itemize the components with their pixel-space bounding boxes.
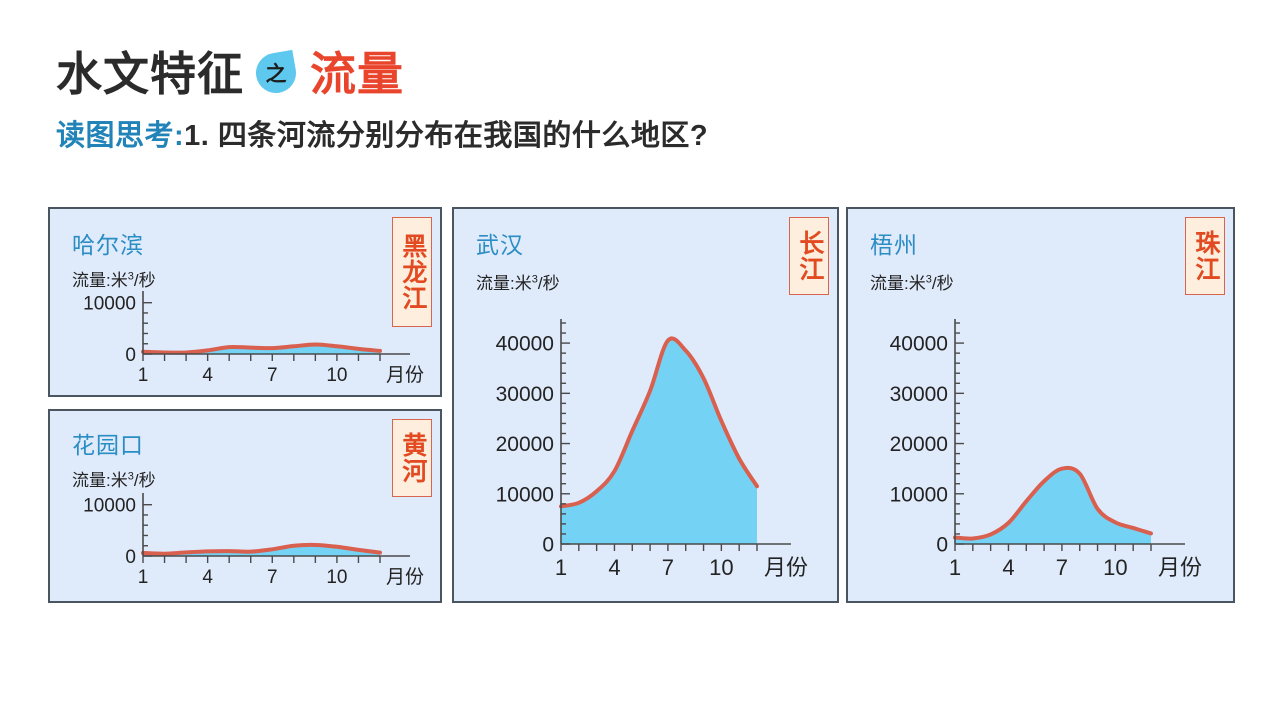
svg-text:10: 10 <box>326 365 347 386</box>
water-drop-icon: 之 <box>254 51 300 97</box>
svg-text:月份: 月份 <box>764 555 808 580</box>
page-title: 水文特征 之 流量 <box>56 44 1236 104</box>
svg-text:1: 1 <box>138 365 149 386</box>
river-tag-zhujiang: 珠江 <box>1185 217 1225 295</box>
water-drop-label: 之 <box>254 51 298 95</box>
title-main-text: 水文特征 <box>56 51 244 97</box>
svg-text:10000: 10000 <box>890 483 948 506</box>
svg-text:0: 0 <box>542 534 554 557</box>
svg-text:7: 7 <box>662 555 674 580</box>
svg-text:1: 1 <box>949 555 961 580</box>
svg-text:20000: 20000 <box>890 433 948 456</box>
chart-panel-wuzhou: 梧州 流量:米3/秒 珠江 01000020000300004000014710… <box>846 207 1235 603</box>
svg-text:0: 0 <box>936 534 948 557</box>
svg-text:1: 1 <box>138 567 149 588</box>
subtitle-label: 读图思考: <box>56 120 184 152</box>
svg-text:10: 10 <box>326 567 347 588</box>
subtitle: 读图思考:1. 四条河流分别分布在我国的什么地区? <box>56 122 1236 151</box>
axis-unit-harbin: 流量:米3/秒 <box>72 266 156 291</box>
header: 水文特征 之 流量 读图思考:1. 四条河流分别分布在我国的什么地区? <box>56 44 1236 151</box>
svg-text:月份: 月份 <box>386 566 424 588</box>
subtitle-question: 1. 四条河流分别分布在我国的什么地区? <box>184 120 708 152</box>
svg-text:0: 0 <box>125 547 136 568</box>
chart-panel-harbin: 哈尔滨 流量:米3/秒 黑龙江 01000014710月份 <box>48 207 442 397</box>
chart-panel-wuhan: 武汉 流量:米3/秒 长江 01000020000300004000014710… <box>452 207 839 603</box>
svg-text:7: 7 <box>267 567 278 588</box>
svg-text:40000: 40000 <box>890 333 948 356</box>
river-tag-huanghe: 黄河 <box>392 419 432 497</box>
chart-harbin: 01000014710月份 <box>50 291 444 391</box>
svg-text:1: 1 <box>555 555 567 580</box>
axis-unit-wuhan: 流量:米3/秒 <box>476 269 560 294</box>
svg-text:月份: 月份 <box>386 364 424 386</box>
svg-text:4: 4 <box>202 567 213 588</box>
svg-text:4: 4 <box>1002 555 1014 580</box>
svg-text:4: 4 <box>202 365 213 386</box>
svg-text:7: 7 <box>1056 555 1068 580</box>
svg-text:10: 10 <box>709 555 733 580</box>
axis-unit-wuzhou: 流量:米3/秒 <box>870 269 954 294</box>
svg-text:4: 4 <box>608 555 620 580</box>
city-title-wuzhou: 梧州 <box>870 226 918 260</box>
svg-text:10000: 10000 <box>83 294 136 315</box>
svg-text:10000: 10000 <box>496 483 554 506</box>
svg-text:20000: 20000 <box>496 433 554 456</box>
svg-text:月份: 月份 <box>1158 555 1202 580</box>
title-accent-text: 流量 <box>310 51 404 97</box>
city-title-huayuankou: 花园口 <box>72 426 144 460</box>
svg-text:10: 10 <box>1103 555 1127 580</box>
city-title-wuhan: 武汉 <box>476 226 524 260</box>
axis-unit-huayuankou: 流量:米3/秒 <box>72 466 156 491</box>
city-title-harbin: 哈尔滨 <box>72 226 144 260</box>
svg-text:10000: 10000 <box>83 496 136 517</box>
chart-panel-huayuankou: 花园口 流量:米3/秒 黄河 01000014710月份 <box>48 409 442 603</box>
svg-text:30000: 30000 <box>496 383 554 406</box>
chart-wuzhou: 01000020000300004000014710月份 <box>848 299 1237 599</box>
chart-huayuankou: 01000014710月份 <box>50 493 444 597</box>
svg-text:30000: 30000 <box>890 383 948 406</box>
svg-text:7: 7 <box>267 365 278 386</box>
chart-wuhan: 01000020000300004000014710月份 <box>454 299 841 599</box>
svg-text:40000: 40000 <box>496 333 554 356</box>
river-tag-changjiang: 长江 <box>789 217 829 295</box>
svg-text:0: 0 <box>125 345 136 366</box>
